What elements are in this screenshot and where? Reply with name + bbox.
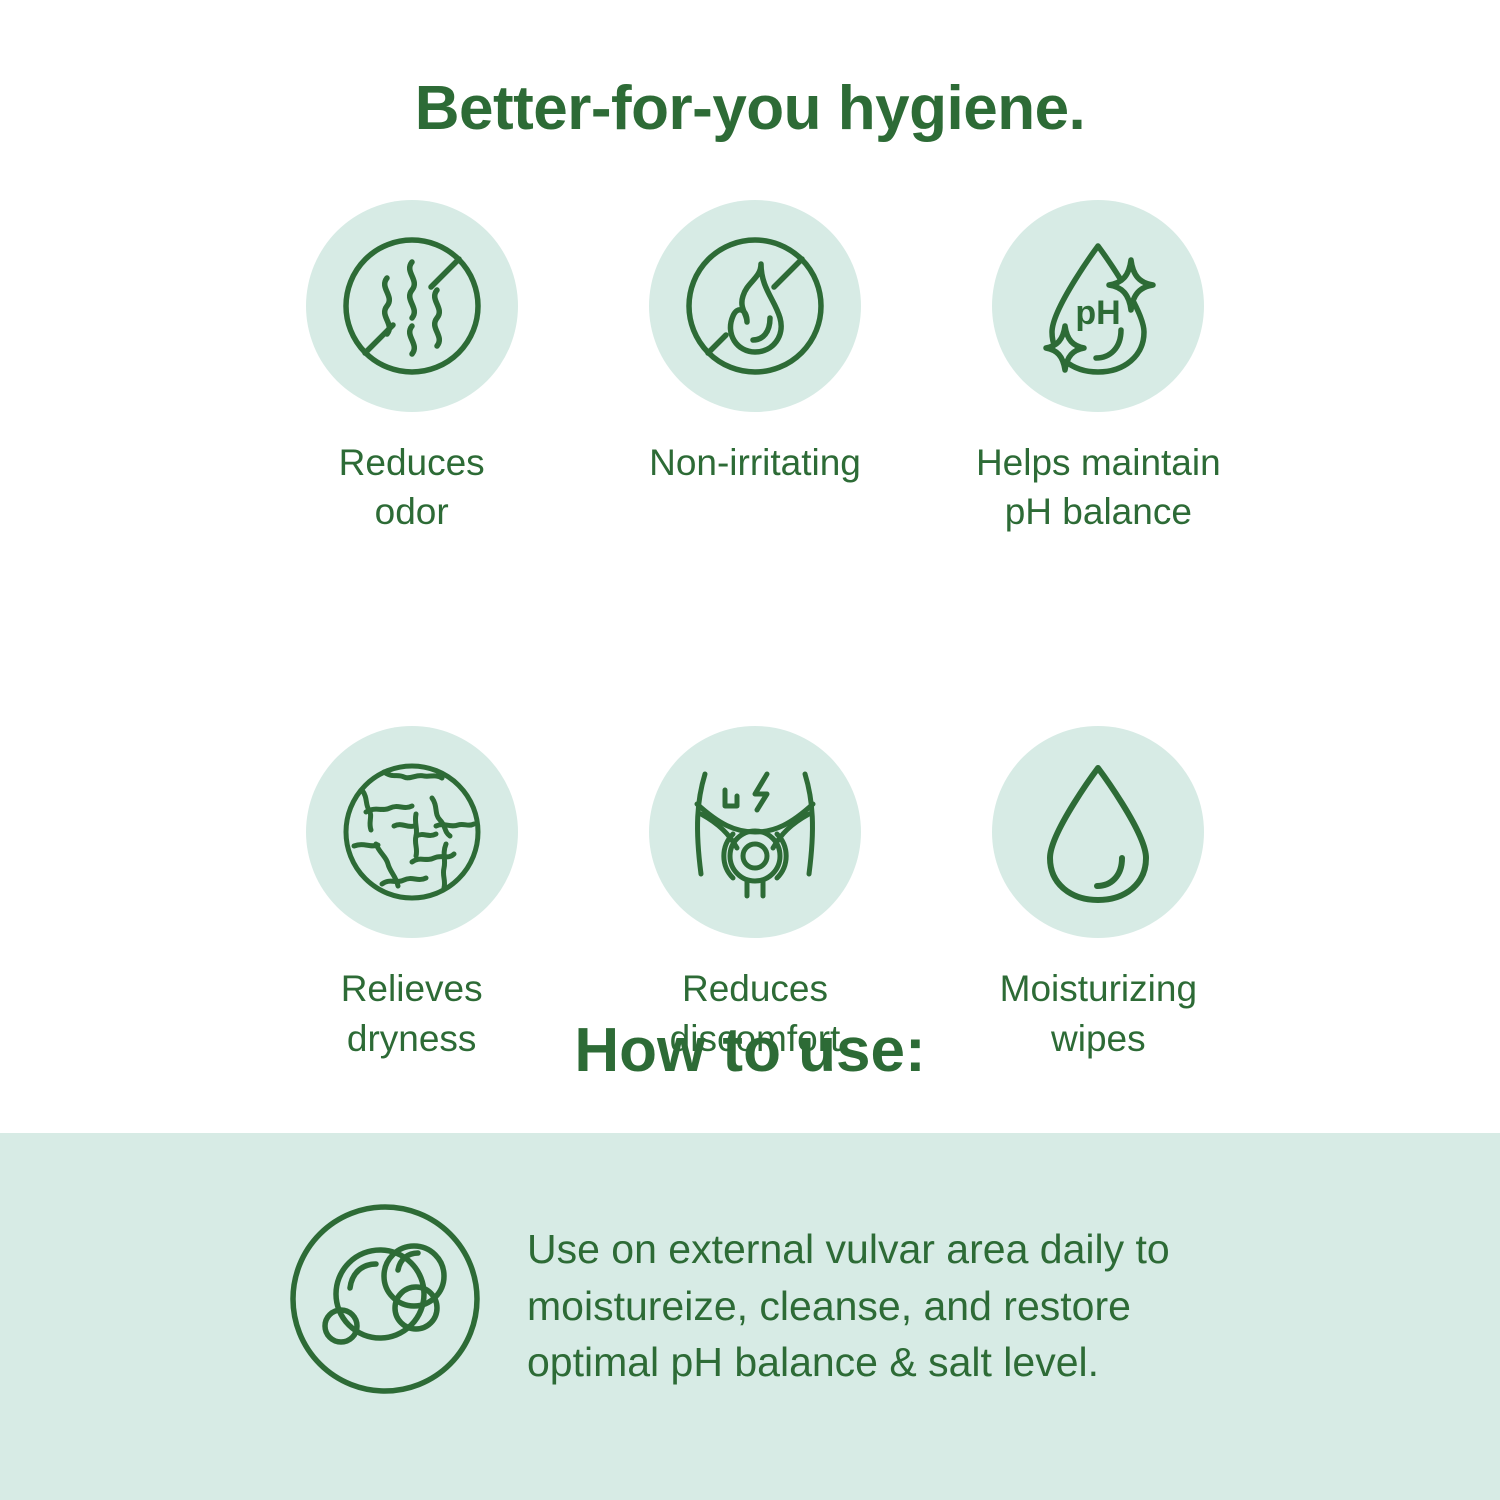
benefit-item-non-irritating: Non-irritating [583, 200, 926, 536]
benefit-icon-badge [649, 200, 861, 412]
bubbles-icon [288, 1202, 482, 1396]
benefit-item-ph-balance: pH Helps maintain pH balance [927, 200, 1270, 536]
no-odor-icon [332, 226, 492, 386]
benefit-item-moisturizing-wipes: Moisturizing wipes [927, 726, 1270, 1062]
how-to-use-section: Use on external vulvar area daily to moi… [0, 1133, 1500, 1500]
benefit-item-reduces-discomfort: Reduces discomfort [583, 726, 926, 1062]
benefit-item-relieves-dryness: Relieves dryness [240, 726, 583, 1062]
ph-droplet-icon: pH [1018, 226, 1178, 386]
benefit-icon-badge [306, 726, 518, 938]
pelvic-pain-icon [675, 752, 835, 912]
benefit-icon-badge [992, 726, 1204, 938]
benefit-icon-badge [649, 726, 861, 938]
benefit-label: Helps maintain pH balance [976, 438, 1221, 536]
product-benefits-infographic: Better-for-you hygiene. [0, 0, 1500, 1500]
how-to-use-heading: How to use: [0, 1020, 1500, 1082]
benefit-item-reduces-odor: Reduces odor [240, 200, 583, 536]
how-to-use-row: Use on external vulvar area daily to moi… [288, 1202, 1350, 1396]
ph-text: pH [1076, 294, 1121, 332]
benefit-grid: Reduces odor Non-irritating [240, 200, 1270, 1063]
benefit-icon-badge [306, 200, 518, 412]
benefit-label: Reduces odor [339, 438, 485, 536]
droplet-icon [1018, 752, 1178, 912]
benefits-section: Better-for-you hygiene. [0, 0, 1500, 1133]
benefit-label: Non-irritating [649, 438, 861, 487]
page-title: Better-for-you hygiene. [0, 78, 1500, 140]
dry-skin-icon [332, 752, 492, 912]
no-flame-icon [675, 226, 835, 386]
how-to-use-body: Use on external vulvar area daily to moi… [527, 1202, 1170, 1391]
benefit-icon-badge: pH [992, 200, 1204, 412]
